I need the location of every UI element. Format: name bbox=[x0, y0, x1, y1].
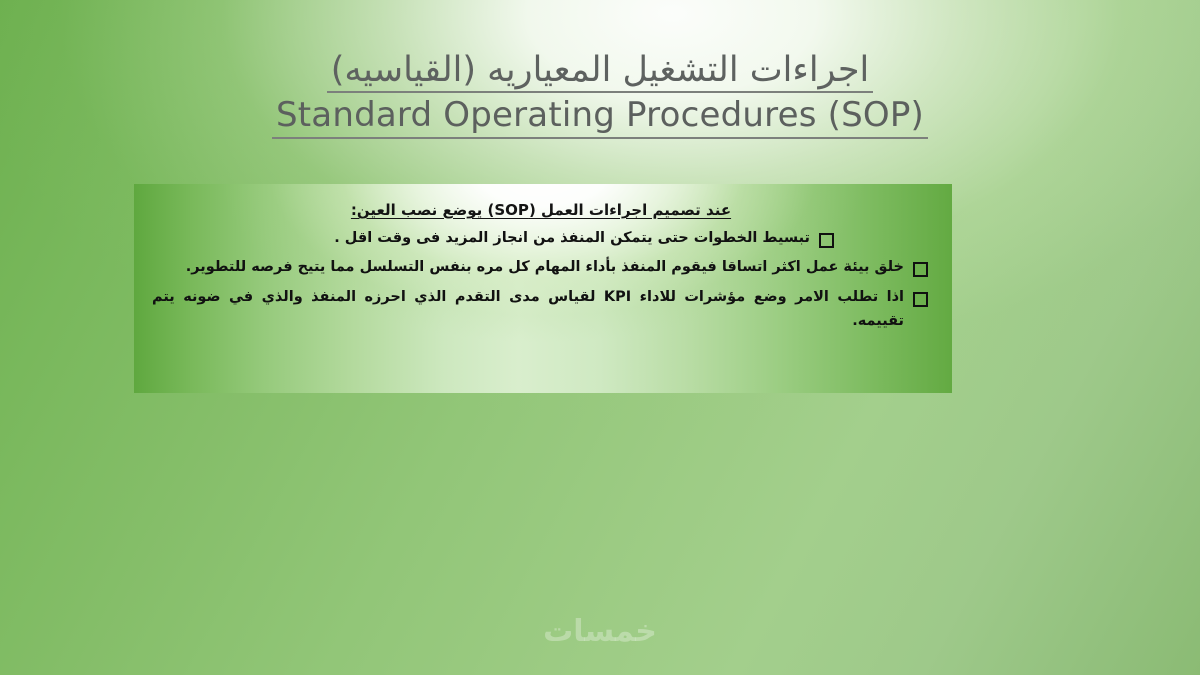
content-panel: عند تصميم اجراءات العمل (SOP) يوضع نصب ا… bbox=[134, 184, 952, 393]
bullet-text: خلق بيئة عمل اكثر اتساقا فيقوم المنفذ بأ… bbox=[152, 256, 904, 280]
checkbox-square-icon bbox=[819, 233, 834, 248]
presentation-slide: اجراءات التشغيل المعياريه (القياسيه) Sta… bbox=[0, 0, 1200, 675]
list-item: خلق بيئة عمل اكثر اتساقا فيقوم المنفذ بأ… bbox=[152, 256, 930, 280]
slide-title-arabic: اجراءات التشغيل المعياريه (القياسيه) bbox=[327, 52, 873, 93]
bullet-list: تبسيط الخطوات حتى يتمكن المنفذ من انجاز … bbox=[152, 227, 930, 335]
checkbox-square-icon bbox=[913, 292, 928, 307]
slide-title-english: Standard Operating Procedures (SOP) bbox=[272, 98, 928, 138]
list-item: اذا تطلب الامر وضع مؤشرات للاداء KPI لقي… bbox=[152, 286, 930, 334]
bullet-text: اذا تطلب الامر وضع مؤشرات للاداء KPI لقي… bbox=[152, 286, 904, 334]
watermark: خمسات bbox=[0, 614, 1200, 649]
content-heading: عند تصميم اجراءات العمل (SOP) يوضع نصب ا… bbox=[152, 201, 930, 221]
bullet-text: تبسيط الخطوات حتى يتمكن المنفذ من انجاز … bbox=[334, 227, 810, 251]
slide-title-block: اجراءات التشغيل المعياريه (القياسيه) Sta… bbox=[0, 52, 1200, 139]
list-item: تبسيط الخطوات حتى يتمكن المنفذ من انجاز … bbox=[152, 227, 930, 251]
checkbox-square-icon bbox=[913, 262, 928, 277]
